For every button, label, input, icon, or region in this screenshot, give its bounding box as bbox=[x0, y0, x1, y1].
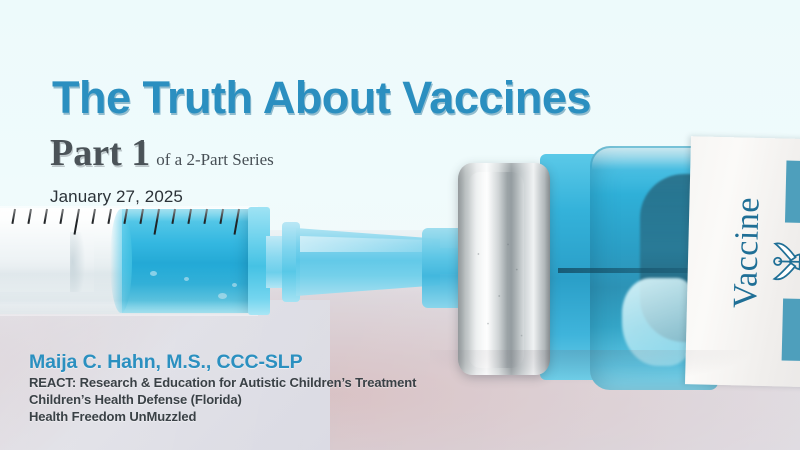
part-number-label: Part 1 bbox=[50, 132, 150, 174]
affiliation-2: Children’s Health Defense (Florida) bbox=[29, 391, 416, 408]
credits-block: Maija C. Hahn, M.S., CCC-SLP REACT: Rese… bbox=[29, 351, 416, 425]
affiliation-3: Health Freedom UnMuzzled bbox=[29, 408, 416, 425]
syringe-plunger bbox=[0, 232, 94, 292]
part-series-label: of a 2-Part Series bbox=[156, 150, 274, 169]
label-block-top bbox=[785, 161, 800, 225]
affiliation-1: REACT: Research & Education for Autistic… bbox=[29, 374, 416, 391]
part-line: Part 1of a 2-Part Series bbox=[50, 131, 274, 175]
page-title: The Truth About Vaccines bbox=[52, 72, 591, 124]
caduceus-icon bbox=[765, 230, 800, 294]
vial-label-text: Vaccine bbox=[726, 147, 769, 358]
vial-cap-speckle bbox=[464, 230, 544, 350]
syringe-liquid bbox=[122, 209, 250, 313]
object-contact-shadow bbox=[430, 350, 800, 396]
presenter-name: Maija C. Hahn, M.S., CCC-SLP bbox=[29, 351, 416, 374]
syringe-illustration bbox=[0, 206, 470, 318]
presentation-date: January 27, 2025 bbox=[50, 187, 183, 207]
slide-canvas: Vaccine The Truth About Vaccines Part 1o… bbox=[0, 0, 800, 450]
